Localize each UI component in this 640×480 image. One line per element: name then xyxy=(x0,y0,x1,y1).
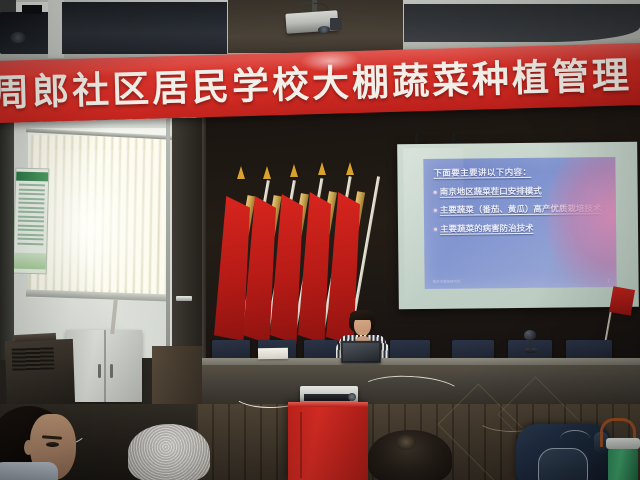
loudspeaker-cone xyxy=(10,32,26,43)
flag-spear-tip-icon xyxy=(318,162,326,175)
mini-flag-icon xyxy=(609,286,635,315)
slide-bullet-text: 主要蔬菜的病害防治技术 xyxy=(440,222,534,235)
cabinet-handle-icon[interactable] xyxy=(110,364,113,378)
backpack-front-pocket xyxy=(538,448,588,480)
side-furniture xyxy=(152,346,202,406)
stage-chair xyxy=(390,340,430,360)
ceiling-panel-right xyxy=(404,4,640,42)
wall-pillar xyxy=(0,110,14,360)
microphone-icon[interactable] xyxy=(524,330,536,340)
presenter-fringe xyxy=(350,310,375,320)
cart-top-edge xyxy=(288,402,368,407)
audience-shirt-left xyxy=(0,462,58,480)
bullet-dot-icon xyxy=(434,191,437,194)
stage-chair xyxy=(212,340,250,360)
poster-footer-graphic xyxy=(14,253,46,270)
audience-ear xyxy=(24,440,33,455)
backpack-zipper-icon xyxy=(560,430,590,447)
photograph-scene: 下面要主要讲以下内容： 南京地区蔬菜茬口安排模式 主要蔬菜（番茄、黄瓜）高产优质… xyxy=(0,0,640,480)
audience-hair-texture xyxy=(128,424,210,480)
stage-chair xyxy=(566,340,612,360)
table-projector-lens-icon xyxy=(348,393,356,401)
stage-chair xyxy=(304,340,338,360)
wall-poster xyxy=(13,168,50,275)
cabinet-handle-icon[interactable] xyxy=(98,364,101,378)
wall-seam xyxy=(166,112,170,360)
banner-glare xyxy=(300,49,361,73)
flag-spear-tip-icon xyxy=(290,164,298,177)
projected-slide: 下面要主要讲以下内容： 南京地区蔬菜茬口安排模式 主要蔬菜（番茄、黄瓜）高产优质… xyxy=(423,157,616,289)
podium-speaker-grill xyxy=(12,347,55,370)
slide-footer: 南京市蔬菜研究所 xyxy=(433,280,461,285)
papers-on-desk xyxy=(258,348,288,360)
window-daylight-glow xyxy=(34,150,154,290)
ceiling-panel-middle xyxy=(62,2,227,54)
side-door[interactable] xyxy=(172,118,202,358)
green-thermos xyxy=(608,446,638,480)
poster-text-lines xyxy=(14,184,48,245)
door-handle-icon[interactable] xyxy=(176,296,192,301)
laptop-screen xyxy=(343,343,379,361)
cabinet-door-seam xyxy=(104,330,106,402)
flag-spear-tip-icon xyxy=(237,166,245,179)
table-projector-vent xyxy=(304,394,350,401)
bullet-dot-icon xyxy=(434,227,437,230)
slide-page-number: 2 xyxy=(607,278,610,283)
flag-spear-tip-icon xyxy=(346,162,354,175)
audience-eye xyxy=(46,442,59,447)
poster-header-band xyxy=(16,172,48,182)
loudspeaker-top-vent xyxy=(22,5,42,14)
cart-seam xyxy=(300,412,302,478)
slide-bullet-text: 南京地区蔬菜茬口安排模式 xyxy=(440,186,542,199)
ceiling-loudspeaker xyxy=(0,12,50,54)
audience-hair-highlight xyxy=(396,434,416,450)
stage-chair xyxy=(452,340,494,360)
thermos-cap xyxy=(606,438,640,449)
projector-bracket xyxy=(330,18,342,30)
flag-spear-tip-icon xyxy=(263,166,271,179)
bullet-dot-icon xyxy=(434,209,437,212)
